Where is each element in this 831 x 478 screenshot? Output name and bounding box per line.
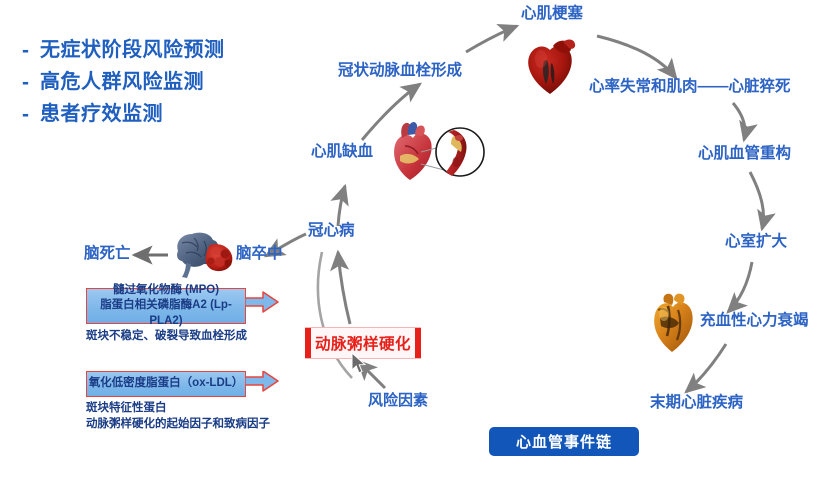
bullet-marker: - bbox=[22, 40, 40, 61]
node-brain-death: 脑死亡 bbox=[84, 245, 131, 262]
callout-ox-ldl-caption: 斑块特征性蛋白 动脉粥样硬化的起始因子和致病因子 bbox=[86, 401, 270, 432]
node-stroke: 脑卒中 bbox=[236, 245, 283, 262]
list-item: - 患者疗效监测 bbox=[22, 104, 225, 125]
node-congestive-heart-failure: 充血性心力衰竭 bbox=[700, 312, 809, 329]
arrow-athero-to-chd bbox=[338, 252, 350, 324]
arrow-arrhythmia-to-remodeling bbox=[733, 103, 745, 140]
list-item: - 无症状阶段风险预测 bbox=[22, 40, 225, 61]
slide-canvas: - 无症状阶段风险预测 - 高危人群风险监测 - 患者疗效监测 bbox=[0, 0, 831, 478]
bullet-marker: - bbox=[22, 104, 40, 125]
node-vascular-remodeling: 心肌血管重构 bbox=[698, 145, 791, 162]
list-item: - 高危人群风险监测 bbox=[22, 72, 225, 93]
mouse-pointer-icon bbox=[351, 352, 367, 376]
callout-ox-ldl: 氧化低密度脂蛋白（ox-LDL） bbox=[86, 371, 246, 397]
callout-ox-ldl-text: 氧化低密度脂蛋白（ox-LDL） bbox=[89, 376, 244, 392]
bullet-label: 高危人群风险监测 bbox=[40, 72, 204, 93]
bullet-label: 患者疗效监测 bbox=[40, 104, 163, 125]
node-end-stage-heart-disease: 末期心脏疾病 bbox=[650, 394, 743, 411]
brain-hemorrhage-figure bbox=[170, 229, 236, 281]
callout-mpo-arrow-icon bbox=[245, 291, 279, 317]
diagram-title-label: 心血管事件链 bbox=[516, 431, 612, 452]
key-points-list: - 无症状阶段风险预测 - 高危人群风险监测 - 患者疗效监测 bbox=[22, 40, 225, 136]
heart-failure-figure bbox=[648, 292, 700, 354]
heart-artery-plaque-figure bbox=[388, 118, 486, 190]
node-coronary-heart-disease: 冠心病 bbox=[308, 222, 355, 239]
heart-infarct-figure bbox=[523, 36, 581, 96]
bullet-marker: - bbox=[22, 72, 40, 93]
arrow-dilation-to-chf bbox=[728, 262, 752, 312]
arrow-mi-to-arrhythmia bbox=[597, 36, 676, 78]
node-coronary-thrombosis: 冠状动脉血栓形成 bbox=[338, 62, 462, 79]
callout-mpo-caption: 斑块不稳定、破裂导致血栓形成 bbox=[86, 329, 247, 345]
diagram-title-pill: 心血管事件链 bbox=[489, 427, 639, 456]
cycle-outer-arc-left bbox=[318, 252, 352, 378]
arrow-chd-to-ischemia bbox=[338, 186, 345, 226]
node-myocardial-infarction: 心肌梗塞 bbox=[521, 5, 583, 22]
bullet-label: 无症状阶段风险预测 bbox=[40, 40, 225, 61]
node-ventricular-dilation: 心室扩大 bbox=[725, 233, 787, 250]
arrow-thrombosis-to-mi bbox=[466, 26, 517, 52]
node-arrhythmia-sudden-death: 心率失常和肌肉——心脏猝死 bbox=[589, 78, 791, 95]
node-risk-factors: 风险因素 bbox=[368, 393, 428, 410]
node-myocardial-ischemia: 心肌缺血 bbox=[311, 143, 373, 160]
callout-mpo-lppla2: 髓过氧化物酶 (MPO) 脂蛋白相关磷脂酶A2 (Lp-PLA2) bbox=[86, 288, 246, 324]
callout-oxldl-arrow-icon bbox=[245, 371, 279, 397]
callout-mpo-lppla2-text: 髓过氧化物酶 (MPO) 脂蛋白相关磷脂酶A2 (Lp-PLA2) bbox=[87, 283, 245, 330]
arrow-remodeling-to-dilation bbox=[750, 172, 764, 229]
